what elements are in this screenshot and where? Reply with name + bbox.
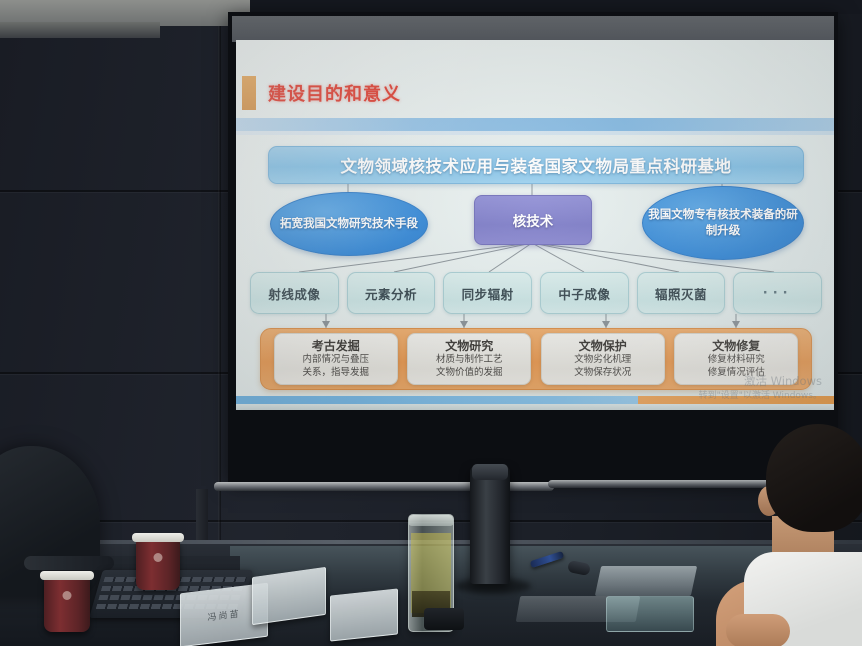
title-accent-bar	[242, 76, 256, 110]
slide-footer-base	[236, 404, 834, 410]
application-line-2: 修复情况评估	[708, 367, 765, 379]
slide-footer-orange	[638, 396, 834, 404]
application-card: 文物研究 材质与制作工艺 文物价值的发掘	[407, 333, 531, 385]
diagram-root-label: 文物领域核技术应用与装备国家文物局重点科研基地	[341, 153, 732, 177]
tea-jar-lid	[408, 514, 454, 526]
application-heading: 文物保护	[579, 339, 627, 354]
application-card: 文物修复 修复材料研究 修复情况评估	[674, 333, 798, 385]
diagram-node-core-label: 核技术	[513, 210, 554, 230]
application-band: 考古发掘 内部情况与叠压 关系，指导发掘 文物研究 材质与制作工艺 文物价值的发…	[260, 328, 812, 390]
presentation-slide: 建设目的和意义	[236, 40, 834, 410]
cup-lid	[132, 533, 184, 542]
tech-tag-ellipsis: ···	[733, 272, 822, 314]
tech-tag-label: 辐照灭菌	[655, 284, 707, 303]
tech-tag-label: 中子成像	[558, 284, 610, 303]
paper-sheet	[595, 566, 697, 596]
tech-tag: 中子成像	[540, 272, 629, 314]
diagram-node-left-label: 拓宽我国文物研究技术手段	[280, 216, 418, 232]
ceiling-beam	[0, 22, 160, 38]
attendee-head	[766, 424, 862, 532]
tech-tag: 元素分析	[347, 272, 436, 314]
application-heading: 文物修复	[712, 339, 760, 354]
diagram-node-core-technology: 核技术	[474, 195, 592, 245]
paper-cup	[136, 540, 180, 590]
diagram-node-right-goal: 我国文物专有核技术装备的研制升级	[642, 186, 804, 260]
conference-room-scene: 建设目的和意义	[0, 0, 862, 646]
application-line-1: 文物劣化机理	[574, 354, 631, 366]
diagram-node-left-goal: 拓宽我国文物研究技术手段	[270, 192, 428, 256]
tech-tag-label: 元素分析	[365, 284, 417, 303]
attendee-hand	[726, 614, 790, 646]
title-divider-secondary	[236, 131, 834, 135]
application-line-1: 修复材料研究	[708, 354, 765, 366]
application-card: 文物保护 文物劣化机理 文物保存状况	[541, 333, 665, 385]
projector-screen-header	[232, 16, 834, 42]
tech-tag: 射线成像	[250, 272, 339, 314]
title-divider	[236, 118, 834, 131]
tech-tag-label: ···	[763, 286, 793, 301]
application-line-1: 材质与制作工艺	[436, 354, 503, 366]
paper-cup	[44, 578, 90, 632]
tablet-device	[606, 596, 694, 632]
technology-tag-row: 射线成像 元素分析 同步辐射 中子成像 辐照灭菌 ···	[250, 272, 822, 314]
cup-lid	[40, 571, 94, 580]
application-line-2: 文物价值的发掘	[436, 367, 503, 379]
name-placard-text: 冯尚苗	[207, 606, 240, 623]
tech-tag: 同步辐射	[443, 272, 532, 314]
chair-armrest	[24, 556, 114, 570]
tech-tag-label: 射线成像	[268, 284, 320, 303]
diagram-node-right-label: 我国文物专有核技术装备的研制升级	[643, 207, 803, 238]
thermos-cap	[472, 464, 508, 480]
diagram-root-node: 文物领域核技术应用与装备国家文物局重点科研基地	[268, 146, 804, 184]
page-title: 建设目的和意义	[268, 80, 401, 106]
tea-jar-base-cap	[424, 608, 464, 630]
application-card: 考古发掘 内部情况与叠压 关系，指导发掘	[274, 333, 398, 385]
application-line-1: 内部情况与叠压	[302, 354, 369, 366]
application-heading: 文物研究	[445, 339, 493, 354]
application-heading: 考古发掘	[312, 339, 360, 354]
application-line-2: 文物保存状况	[574, 367, 631, 379]
name-placard	[330, 588, 398, 641]
cup-logo	[154, 553, 163, 562]
thermos-flask	[470, 466, 510, 584]
tech-tag-label: 同步辐射	[462, 284, 514, 303]
cup-logo	[63, 591, 72, 600]
application-line-2: 关系，指导发掘	[302, 367, 369, 379]
tech-tag: 辐照灭菌	[637, 272, 726, 314]
